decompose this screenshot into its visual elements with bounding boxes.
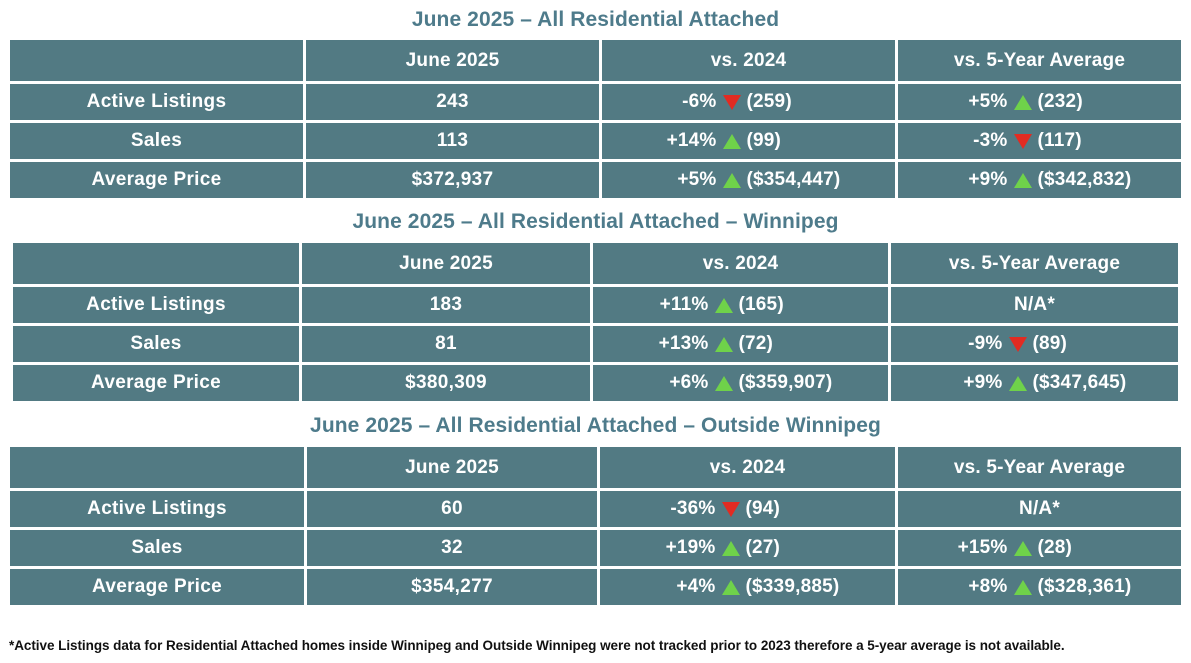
stats-table-outside-winnipeg: June 2025 vs. 2024 vs. 5-Year Average Ac… xyxy=(10,447,1181,605)
baseline-value: (259) xyxy=(747,91,843,113)
baseline-value: (99) xyxy=(747,130,843,152)
triangle-down-icon xyxy=(1008,134,1038,149)
cell-current-active-listings: 243 xyxy=(306,84,602,123)
cell-vs-2024-average-price: +6% ($359,907) xyxy=(593,365,891,401)
triangle-up-icon xyxy=(1008,541,1038,556)
column-header-vs-2024: vs. 2024 xyxy=(593,243,891,287)
stats-page: June 2025 – All Residential Attached Jun… xyxy=(0,0,1191,663)
column-header-vs-2024: vs. 2024 xyxy=(600,447,898,491)
row-label-average-price: Average Price xyxy=(10,162,306,198)
table-row: Average Price $380,309 +6% ($359,907) +9… xyxy=(13,365,1178,401)
row-label-sales: Sales xyxy=(10,530,307,569)
baseline-value: ($339,885) xyxy=(746,576,842,598)
triangle-up-icon xyxy=(717,173,747,188)
triangle-up-icon xyxy=(709,337,739,352)
triangle-up-icon xyxy=(1003,376,1033,391)
cell-current-sales: 32 xyxy=(307,530,600,569)
table-row: Sales 81 +13% (72) -9% (89) xyxy=(13,326,1178,365)
baseline-value: (72) xyxy=(739,333,835,355)
triangle-up-icon xyxy=(716,541,746,556)
footnote-text: *Active Listings data for Residential At… xyxy=(9,638,1185,654)
table-row: Sales 32 +19% (27) +15% (28) xyxy=(10,530,1181,569)
column-header-current: June 2025 xyxy=(302,243,593,287)
triangle-up-icon xyxy=(1008,95,1038,110)
cell-vs-2024-active-listings: -6% (259) xyxy=(602,84,898,123)
row-label-average-price: Average Price xyxy=(13,365,302,401)
baseline-value: (89) xyxy=(1033,333,1129,355)
change-percent: +9% xyxy=(941,372,1003,394)
change-percent: +19% xyxy=(654,537,716,559)
change-percent: +6% xyxy=(647,372,709,394)
baseline-value: (28) xyxy=(1038,537,1134,559)
column-header-current: June 2025 xyxy=(306,40,602,84)
baseline-value: ($347,645) xyxy=(1033,372,1129,394)
change-percent: -36% xyxy=(654,498,716,520)
row-label-active-listings: Active Listings xyxy=(13,287,302,326)
cell-vs-5-year-average-price: +9% ($342,832) xyxy=(898,162,1181,198)
change-percent: +5% xyxy=(946,91,1008,113)
stats-table-all-residential-attached: June 2025 vs. 2024 vs. 5-Year Average Ac… xyxy=(10,40,1181,198)
row-label-active-listings: Active Listings xyxy=(10,84,306,123)
table-row: Sales 113 +14% (99) -3% (117) xyxy=(10,123,1181,162)
cell-current-sales: 113 xyxy=(306,123,602,162)
change-percent: +8% xyxy=(946,576,1008,598)
baseline-value: ($359,907) xyxy=(739,372,835,394)
section-title-winnipeg: June 2025 – All Residential Attached – W… xyxy=(0,198,1191,243)
cell-vs-5-year-sales: -9% (89) xyxy=(891,326,1178,365)
triangle-down-icon xyxy=(1003,337,1033,352)
change-percent: +5% xyxy=(655,169,717,191)
cell-vs-5-year-active-listings: +5% (232) xyxy=(898,84,1181,123)
baseline-value: (94) xyxy=(746,498,842,520)
baseline-value: ($354,447) xyxy=(747,169,843,191)
column-header-vs-5-year: vs. 5-Year Average xyxy=(891,243,1178,287)
triangle-up-icon xyxy=(1008,173,1038,188)
section-title-outside-winnipeg: June 2025 – All Residential Attached – O… xyxy=(0,401,1191,447)
column-header-corner xyxy=(13,243,302,287)
change-percent: +9% xyxy=(946,169,1008,191)
cell-current-sales: 81 xyxy=(302,326,593,365)
baseline-value: (165) xyxy=(739,294,835,316)
cell-vs-2024-sales: +14% (99) xyxy=(602,123,898,162)
stats-table-winnipeg: June 2025 vs. 2024 vs. 5-Year Average Ac… xyxy=(13,243,1178,401)
table-row: Average Price $372,937 +5% ($354,447) +9… xyxy=(10,162,1181,198)
change-percent: +13% xyxy=(647,333,709,355)
table-row: Average Price $354,277 +4% ($339,885) +8… xyxy=(10,569,1181,605)
cell-vs-5-year-average-price: +9% ($347,645) xyxy=(891,365,1178,401)
triangle-up-icon xyxy=(717,134,747,149)
column-header-corner xyxy=(10,40,306,84)
change-percent: -6% xyxy=(655,91,717,113)
cell-vs-2024-sales: +13% (72) xyxy=(593,326,891,365)
cell-current-active-listings: 60 xyxy=(307,491,600,530)
cell-vs-2024-average-price: +5% ($354,447) xyxy=(602,162,898,198)
change-percent: +15% xyxy=(946,537,1008,559)
change-percent: -9% xyxy=(941,333,1003,355)
table-header-row: June 2025 vs. 2024 vs. 5-Year Average xyxy=(10,40,1181,84)
baseline-value: ($342,832) xyxy=(1038,169,1134,191)
column-header-vs-5-year: vs. 5-Year Average xyxy=(898,447,1181,491)
triangle-up-icon xyxy=(1008,580,1038,595)
cell-current-average-price: $372,937 xyxy=(306,162,602,198)
cell-current-average-price: $380,309 xyxy=(302,365,593,401)
cell-vs-2024-active-listings: -36% (94) xyxy=(600,491,898,530)
cell-vs-2024-sales: +19% (27) xyxy=(600,530,898,569)
change-percent: +4% xyxy=(654,576,716,598)
cell-vs-5-year-sales: -3% (117) xyxy=(898,123,1181,162)
cell-vs-5-year-active-listings: N/A* xyxy=(891,287,1178,326)
table-header-row: June 2025 vs. 2024 vs. 5-Year Average xyxy=(10,447,1181,491)
baseline-value: (27) xyxy=(746,537,842,559)
row-label-sales: Sales xyxy=(10,123,306,162)
row-label-average-price: Average Price xyxy=(10,569,307,605)
column-header-vs-2024: vs. 2024 xyxy=(602,40,898,84)
cell-vs-2024-active-listings: +11% (165) xyxy=(593,287,891,326)
cell-vs-5-year-sales: +15% (28) xyxy=(898,530,1181,569)
table-header-row: June 2025 vs. 2024 vs. 5-Year Average xyxy=(13,243,1178,287)
triangle-down-icon xyxy=(716,502,746,517)
change-percent: -3% xyxy=(946,130,1008,152)
column-header-corner xyxy=(10,447,307,491)
cell-vs-2024-average-price: +4% ($339,885) xyxy=(600,569,898,605)
table-row: Active Listings 243 -6% (259) +5% (232) xyxy=(10,84,1181,123)
cell-current-average-price: $354,277 xyxy=(307,569,600,605)
not-available-value: N/A* xyxy=(1019,498,1060,520)
column-header-vs-5-year: vs. 5-Year Average xyxy=(898,40,1181,84)
triangle-up-icon xyxy=(709,376,739,391)
not-available-value: N/A* xyxy=(1014,294,1055,316)
row-label-sales: Sales xyxy=(13,326,302,365)
baseline-value: ($328,361) xyxy=(1038,576,1134,598)
table-row: Active Listings 183 +11% (165) N/A* xyxy=(13,287,1178,326)
change-percent: +11% xyxy=(647,294,709,316)
table-row: Active Listings 60 -36% (94) N/A* xyxy=(10,491,1181,530)
triangle-down-icon xyxy=(717,95,747,110)
cell-vs-5-year-active-listings: N/A* xyxy=(898,491,1181,530)
triangle-up-icon xyxy=(709,298,739,313)
triangle-up-icon xyxy=(716,580,746,595)
row-label-active-listings: Active Listings xyxy=(10,491,307,530)
cell-vs-5-year-average-price: +8% ($328,361) xyxy=(898,569,1181,605)
cell-current-active-listings: 183 xyxy=(302,287,593,326)
baseline-value: (117) xyxy=(1038,130,1134,152)
change-percent: +14% xyxy=(655,130,717,152)
baseline-value: (232) xyxy=(1038,91,1134,113)
column-header-current: June 2025 xyxy=(307,447,600,491)
section-title-all-residential-attached: June 2025 – All Residential Attached xyxy=(0,0,1191,40)
